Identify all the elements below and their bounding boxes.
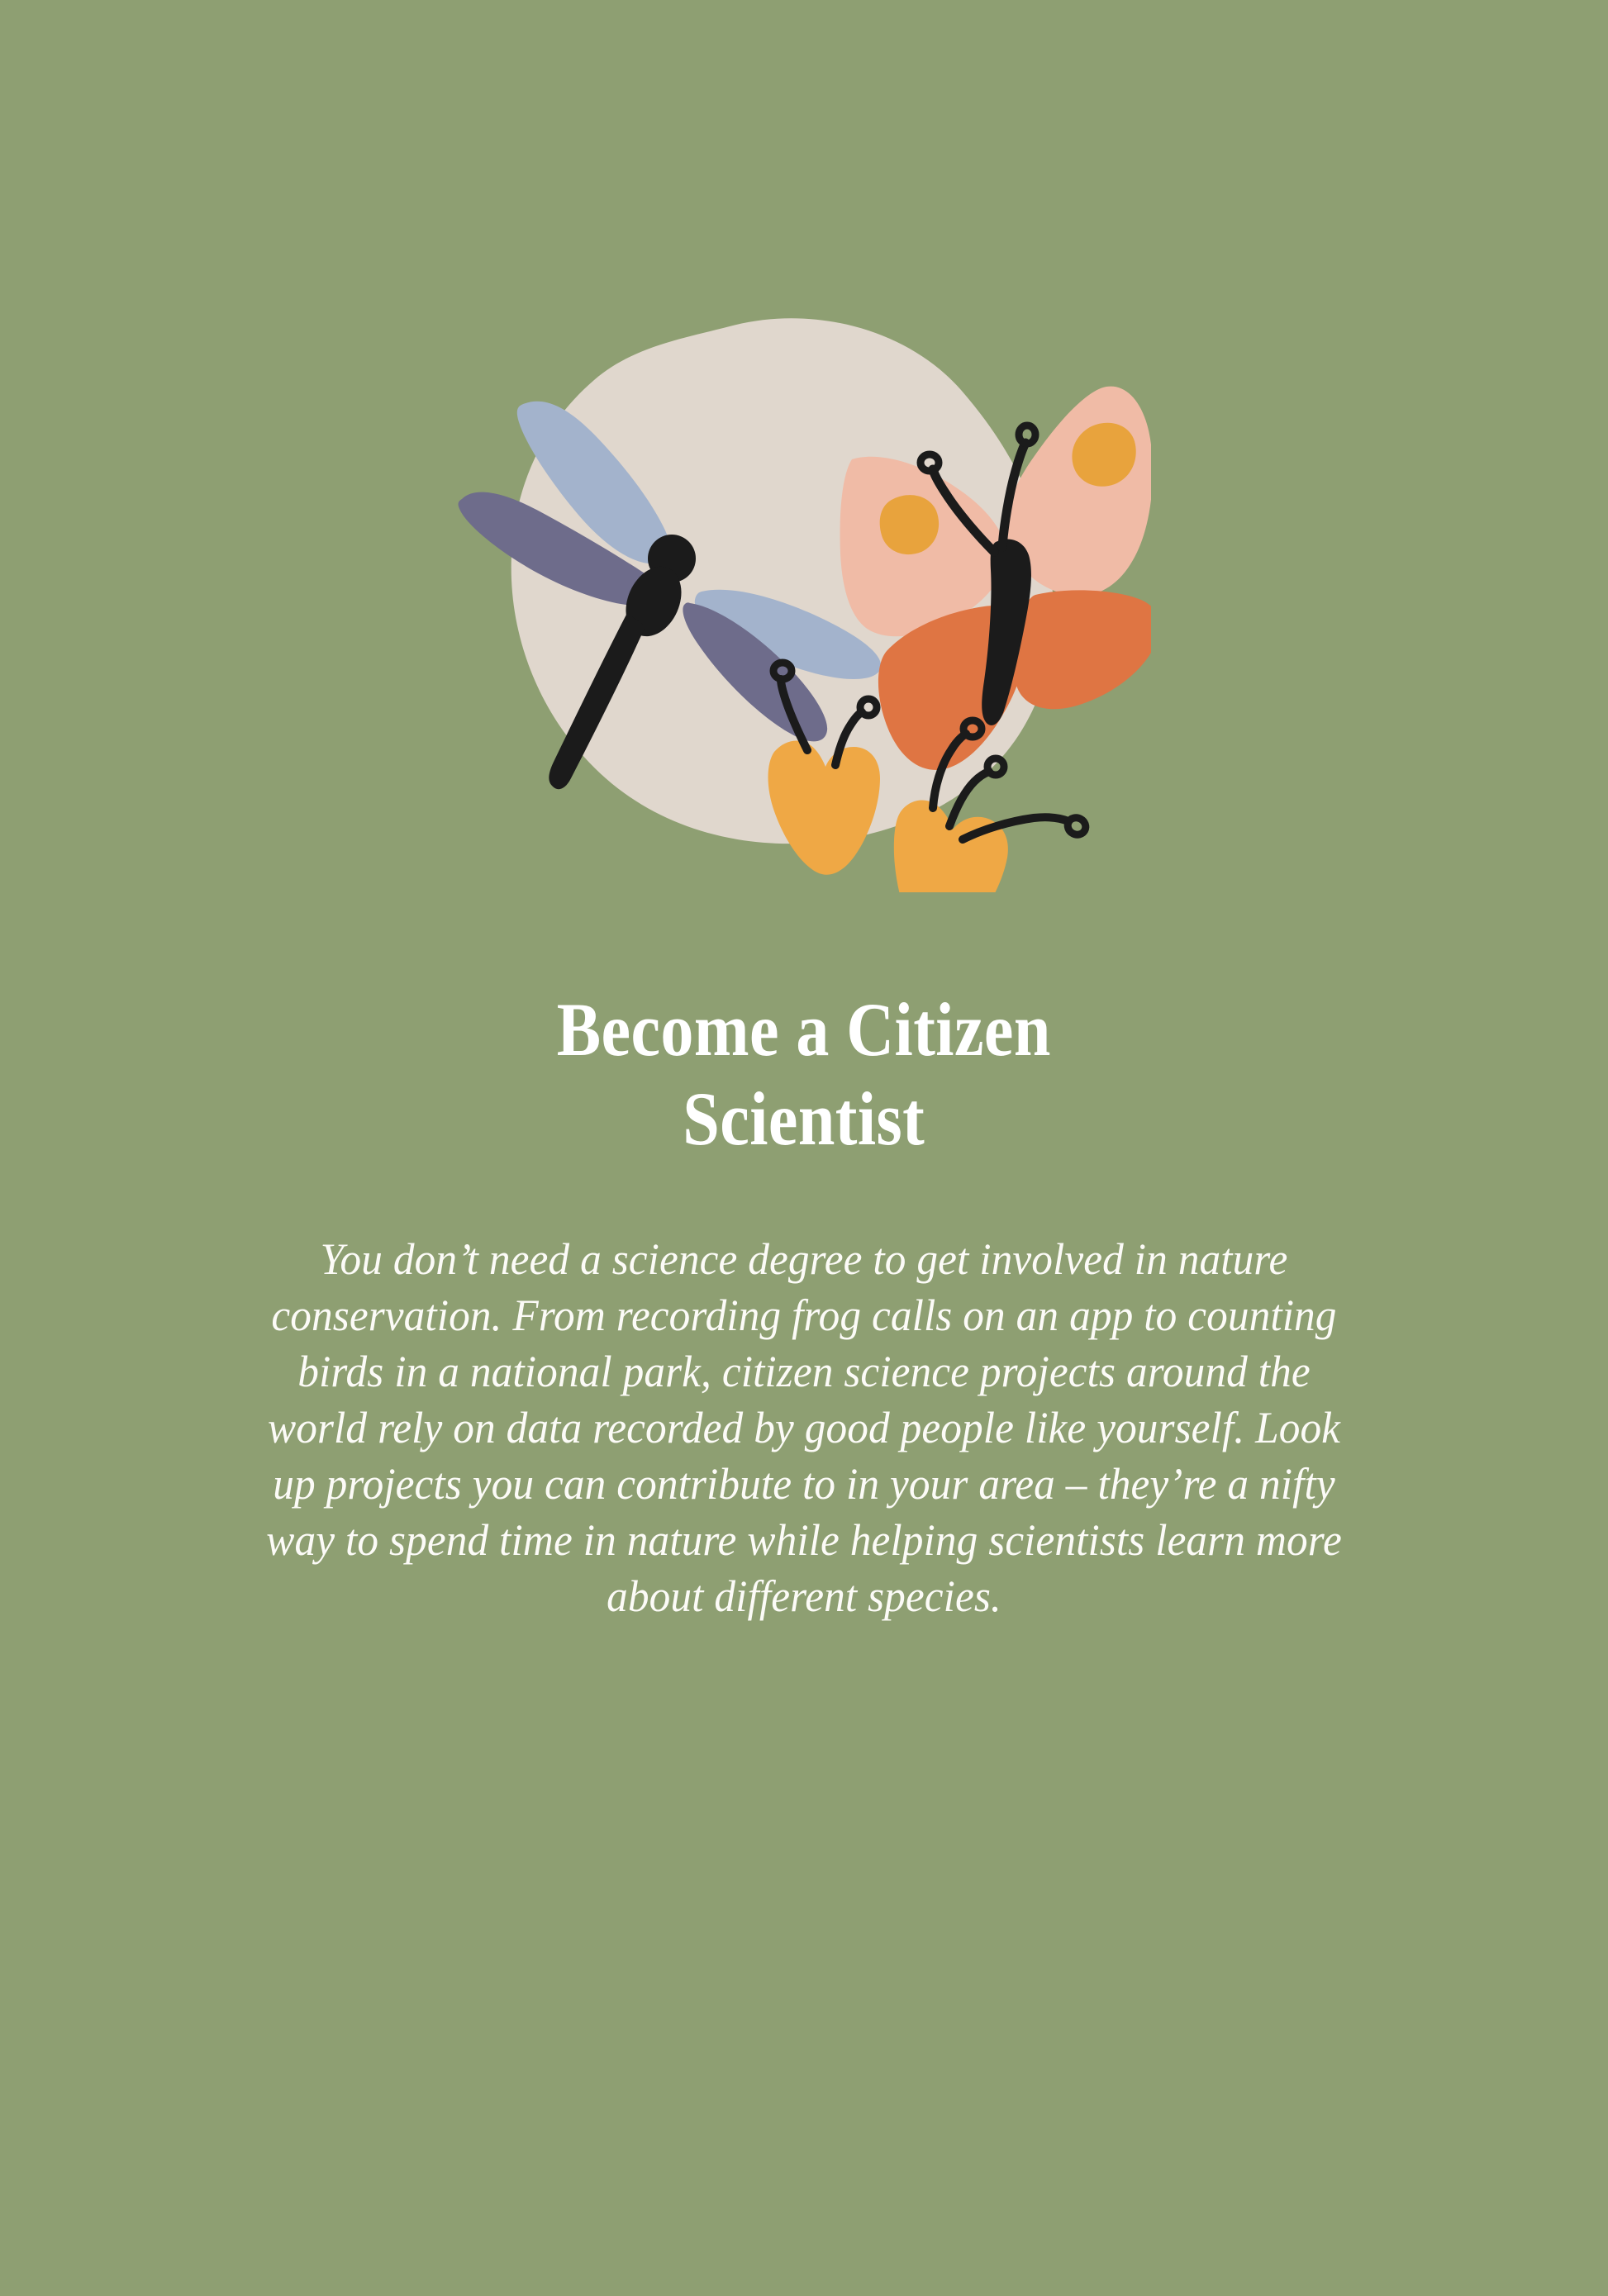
page-title-line-1: Become a Citizen [557,987,1051,1072]
butterfly-antenna-tip-right [1019,425,1035,444]
moth-right-antenna-tip-2 [987,758,1004,775]
insects-illustration [457,314,1151,892]
page-title: Become a Citizen Scientist [226,985,1382,1164]
moth-right-antenna-tip-3 [1065,815,1089,838]
body-paragraph-block: You don’t need a science degree to get i… [230,1231,1378,1624]
page-title-line-2: Scientist [683,1077,925,1161]
body-paragraph: You don’t need a science degree to get i… [259,1231,1350,1624]
butterfly-wing-lower-right [1013,590,1151,709]
poster-card: Become a Citizen Scientist You don’t nee… [0,0,1608,2296]
butterfly-spot-left [880,495,939,554]
